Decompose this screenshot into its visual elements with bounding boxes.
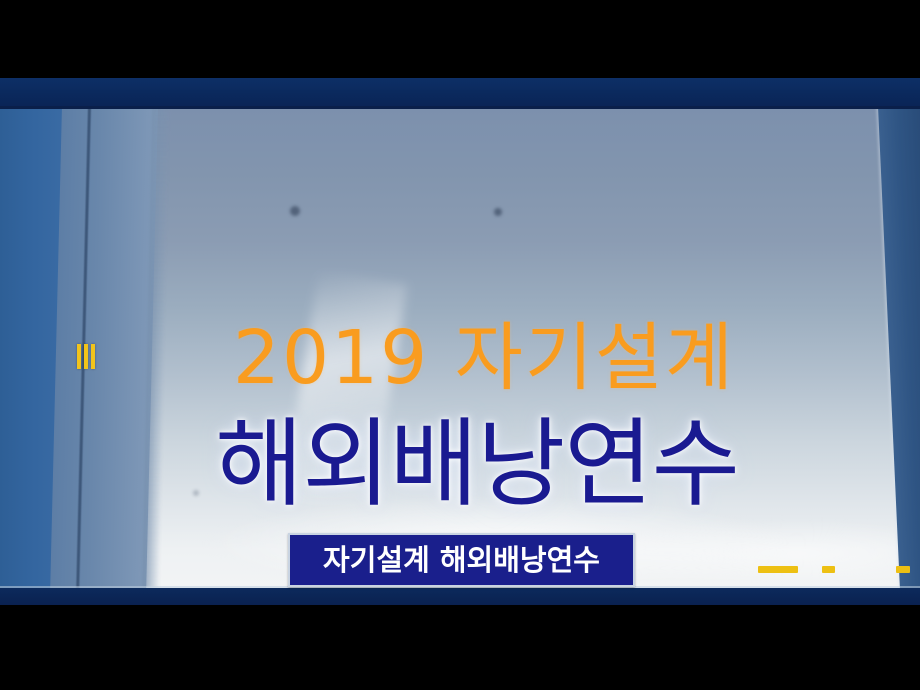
lens-speck	[494, 208, 502, 216]
video-band-top	[0, 78, 920, 109]
video-player-screen: 2019 자기설계 해외배낭연수 자기설계 해외배낭연수	[0, 0, 920, 690]
lens-speck	[290, 206, 300, 216]
marker-dash	[896, 566, 910, 573]
caption-text: 자기설계 해외배낭연수	[323, 546, 600, 575]
letterbox-top	[0, 0, 920, 78]
marker-dash	[758, 566, 798, 573]
marker-dash	[822, 566, 835, 573]
caption-bar: 자기설계 해외배낭연수	[288, 533, 635, 587]
title-main-line: 해외배낭연수	[0, 416, 920, 512]
title-year-line: 2019 자기설계	[0, 321, 920, 395]
letterbox-bottom	[0, 605, 920, 690]
video-frame[interactable]: 2019 자기설계 해외배낭연수 자기설계 해외배낭연수	[0, 78, 920, 605]
video-band-bottom	[0, 588, 920, 605]
